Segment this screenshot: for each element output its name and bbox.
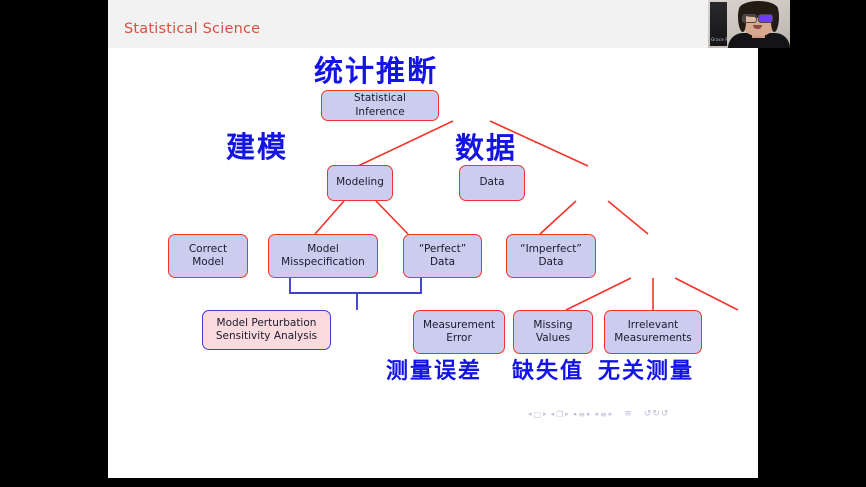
nav-prev-section-icon[interactable]: ◂ — [595, 410, 599, 418]
page-title: Statistical Science — [124, 21, 260, 37]
nav-search-icon[interactable]: ↻ — [652, 409, 660, 419]
node-perfect-data[interactable]: “Perfect” Data — [403, 234, 482, 278]
webcam-glasses-left — [742, 14, 757, 23]
nav-next-frame-icon[interactable]: ▸ — [565, 410, 569, 418]
nav-group-frame[interactable]: ◂ ❐ ▸ — [551, 410, 569, 419]
beamer-navigation-bar[interactable]: ◂ □ ▸ ◂ ❐ ▸ ◂ ≡ ▸ ◂ ≡ ▸ ≡ ↺ ↻ — [528, 405, 743, 423]
node-modeling[interactable]: Modeling — [327, 165, 393, 201]
node-data[interactable]: Data — [459, 165, 525, 201]
annotation-modeling: 建模 — [226, 124, 288, 166]
webcam-glasses-right — [758, 14, 773, 23]
node-statistical-inference[interactable]: Statistical Inference — [321, 90, 439, 121]
node-measurement-error[interactable]: Measurement Error — [413, 310, 505, 354]
webcam-glasses-bridge — [755, 17, 758, 18]
node-model-misspecification[interactable]: Model Misspecification — [268, 234, 378, 278]
node-missing-values[interactable]: Missing Values — [513, 310, 593, 354]
annotation-data: 数据 — [455, 125, 517, 167]
nav-next-section-icon[interactable]: ▸ — [609, 410, 613, 418]
nav-prev-frame-icon[interactable]: ◂ — [551, 410, 555, 418]
nav-prev-subsection-icon[interactable]: ◂ — [573, 410, 577, 418]
nav-subsection-icon[interactable]: ≡ — [578, 410, 585, 419]
nav-next-subsection-icon[interactable]: ▸ — [587, 410, 591, 418]
slide-title-bar: Statistical Science — [108, 0, 758, 48]
node-irrelevant-measurements[interactable]: Irrelevant Measurements — [604, 310, 702, 354]
node-imperfect-data[interactable]: “Imperfect” Data — [506, 234, 596, 278]
nav-slide-icon[interactable]: □ — [534, 410, 542, 419]
nav-forward-icon[interactable]: ↺ — [661, 409, 669, 419]
nav-group-slide[interactable]: ◂ □ ▸ — [528, 410, 547, 419]
annotation-missing-values: 缺失值 — [512, 353, 584, 385]
nav-document-icon[interactable]: ≡ — [624, 409, 632, 419]
nav-group-subsection[interactable]: ◂ ≡ ▸ — [573, 410, 591, 419]
nav-back-icon[interactable]: ↺ — [644, 409, 652, 419]
nav-next-icon[interactable]: ▸ — [543, 410, 547, 418]
webcam-video-overlay[interactable]: Grace P. — [708, 0, 790, 48]
nav-prev-icon[interactable]: ◂ — [528, 410, 532, 418]
annotation-irrelevant-measurements: 无关测量 — [598, 353, 694, 385]
annotation-measurement-error: 测量误差 — [386, 353, 482, 385]
screen: Statistical Science — [0, 0, 866, 487]
annotation-stat-inference: 统计推断 — [314, 48, 438, 90]
nav-back-forward-group[interactable]: ↺ ↻ ↺ — [644, 409, 669, 419]
nav-group-section[interactable]: ◂ ≡ ▸ — [595, 410, 613, 419]
nav-section-icon[interactable]: ≡ — [600, 410, 607, 419]
webcam-name-label: Grace P. — [711, 37, 729, 42]
node-model-perturbation[interactable]: Model Perturbation Sensitivity Analysis — [202, 310, 331, 350]
nav-frame-icon[interactable]: ❐ — [556, 410, 563, 419]
presentation-slide: Statistical Science — [108, 0, 758, 478]
node-correct-model[interactable]: Correct Model — [168, 234, 248, 278]
